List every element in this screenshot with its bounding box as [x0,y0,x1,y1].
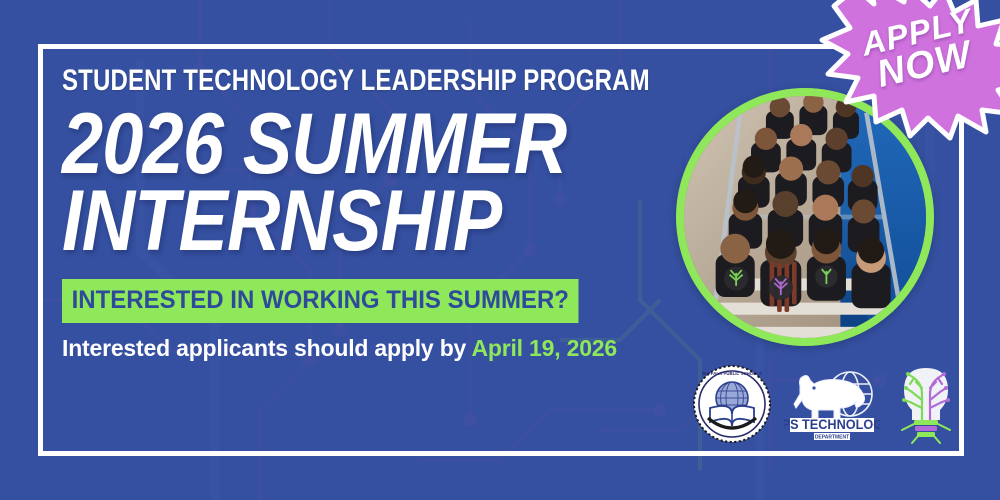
highlight-question-banner: INTERESTED IN WORKING THIS SUMMER? [62,279,579,323]
flyer-content: STUDENT TECHNOLOGY LEADERSHIP PROGRAM 20… [62,66,722,360]
svg-text:BUFFALO PUBLIC SCHOOLS: BUFFALO PUBLIC SCHOOLS [702,371,762,376]
tech-lightbulb-logo [892,364,960,444]
svg-text:BPS TECHNOLOGY: BPS TECHNOLOGY [784,417,880,432]
program-eyebrow-title: STUDENT TECHNOLOGY LEADERSHIP PROGRAM [62,66,590,96]
application-deadline-text: Interested applicants should apply by Ap… [62,337,722,360]
apply-now-badge[interactable]: APPLY NOW [818,0,1000,118]
buffalo-public-schools-seal-logo: BUFFALO PUBLIC SCHOOLS [692,364,772,444]
deadline-date: April 19, 2026 [471,335,617,361]
logo-row: BUFFALO PUBLIC SCHOOLS BPS TECHNOLOGY DE… [692,362,942,446]
headline-line-1: 2026 SUMMER [62,106,630,183]
page-title: 2026 SUMMER INTERNSHIP [62,106,722,261]
student-photo-circle [676,88,934,346]
bps-technology-department-logo: BPS TECHNOLOGY DEPARTMENT [784,364,880,444]
internship-flyer: STUDENT TECHNOLOGY LEADERSHIP PROGRAM 20… [0,0,1000,500]
deadline-prefix: Interested applicants should apply by [62,335,471,361]
student-group-photo [684,96,926,338]
headline-line-2: INTERNSHIP [62,183,630,260]
svg-text:DEPARTMENT: DEPARTMENT [815,435,849,441]
